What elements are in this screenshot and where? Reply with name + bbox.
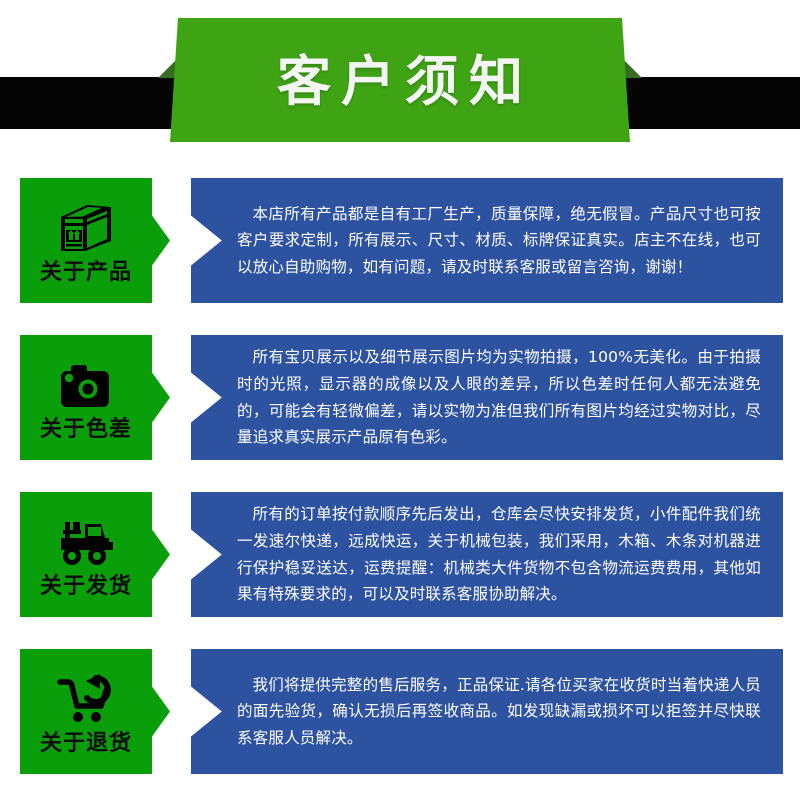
notice-text: 所有的订单按付款顺序先后发出，仓库会尽快安排发货，小件配件我们统一发速尔快递，远… [237, 501, 761, 608]
notice-row-product: 关于产品 本店所有产品都是自有工厂生产，质量保障，绝无假冒。产品尺寸也可按客户要… [0, 178, 800, 303]
notice-row-return: 关于退货 我们将提供完整的售后服务，正品保证.请各位买家在收货时当着快递人员的面… [0, 649, 800, 774]
page-header: 客户须知 [0, 0, 800, 160]
notice-text: 我们将提供完整的售后服务，正品保证.请各位买家在收货时当着快递人员的面先验货，确… [237, 672, 761, 752]
camera-icon [55, 354, 117, 416]
header-ribbon: 客户须知 [0, 0, 800, 160]
notice-text: 本店所有产品都是自有工厂生产，质量保障，绝无假冒。产品尺寸也可按客户要求定制，所… [237, 201, 761, 281]
notice-panel-shipping: 所有的订单按付款顺序先后发出，仓库会尽快安排发货，小件配件我们统一发速尔快递，远… [191, 492, 783, 617]
notice-row-shipping: 关于发货 所有的订单按付款顺序先后发出，仓库会尽快安排发货，小件配件我们统一发速… [0, 492, 800, 617]
ribbon-banner: 客户须知 [170, 18, 630, 142]
forklift-truck-icon [55, 511, 117, 573]
icon-card-label: 关于发货 [40, 575, 132, 598]
return-cart-icon [55, 668, 117, 730]
notice-panel-color: 所有宝贝展示以及细节展示图片均为实物拍摄，100%无美化。由于拍摄时的光照，显示… [191, 335, 783, 460]
notice-panel-return: 我们将提供完整的售后服务，正品保证.请各位买家在收货时当着快递人员的面先验货，确… [191, 649, 783, 774]
icon-card-product[interactable]: 关于产品 [20, 178, 170, 303]
package-box-icon [55, 197, 117, 259]
notice-panel-product: 本店所有产品都是自有工厂生产，质量保障，绝无假冒。产品尺寸也可按客户要求定制，所… [191, 178, 783, 303]
icon-card-label: 关于退货 [40, 732, 132, 755]
icon-card-label: 关于色差 [40, 418, 132, 441]
notice-text: 所有宝贝展示以及细节展示图片均为实物拍摄，100%无美化。由于拍摄时的光照，显示… [237, 344, 761, 451]
icon-card-shipping[interactable]: 关于发货 [20, 492, 170, 617]
icon-card-color[interactable]: 关于色差 [20, 335, 170, 460]
notice-row-color: 关于色差 所有宝贝展示以及细节展示图片均为实物拍摄，100%无美化。由于拍摄时的… [0, 335, 800, 460]
notice-sections: 关于产品 本店所有产品都是自有工厂生产，质量保障，绝无假冒。产品尺寸也可按客户要… [0, 160, 800, 774]
page-title: 客户须知 [267, 51, 533, 109]
icon-card-return[interactable]: 关于退货 [20, 649, 170, 774]
icon-card-label: 关于产品 [40, 261, 132, 284]
